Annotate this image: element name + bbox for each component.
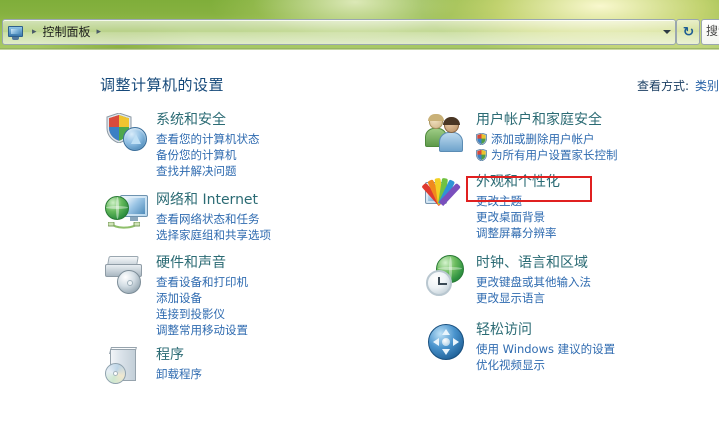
category-sublinks: 使用 Windows 建议的设置优化视频显示 [476,341,719,373]
address-bar[interactable]: ▸ 控制面板 ▸ [2,19,676,45]
sublink-label: 更改主题 [476,193,522,209]
view-by-label: 查看方式: [637,79,689,93]
category-block: 硬件和声音查看设备和打印机添加设备连接到投影仪调整常用移动设置 [104,253,404,338]
category-block: 程序卸载程序 [104,345,404,382]
category-body: 时钟、语言和区域更改键盘或其他输入法更改显示语言 [476,253,719,306]
category-sublink[interactable]: 连接到投影仪 [156,306,404,322]
category-sublink[interactable]: 查找并解决问题 [156,163,404,179]
category-sublink[interactable]: 使用 Windows 建议的设置 [476,341,719,357]
category-icon-wrap[interactable] [424,174,470,218]
category-title-link[interactable]: 网络和 Internet [156,190,404,210]
category-icon-wrap[interactable] [104,192,150,236]
category-sublinks: 更改主题更改桌面背景调整屏幕分辨率 [476,193,719,241]
category-sublink[interactable]: 选择家庭组和共享选项 [156,227,404,243]
category-sublinks: 查看您的计算机状态备份您的计算机查找并解决问题 [156,131,404,179]
category-body: 外观和个性化更改主题更改桌面背景调整屏幕分辨率 [476,172,719,241]
category-block: 用户帐户和家庭安全添加或删除用户帐户为所有用户设置家长控制 [424,110,719,163]
programs-box-cd-icon [104,347,150,391]
category-sublinks: 更改键盘或其他输入法更改显示语言 [476,274,719,306]
category-sublink[interactable]: 查看网络状态和任务 [156,211,404,227]
sublink-label: 选择家庭组和共享选项 [156,227,271,243]
sublink-label: 调整屏幕分辨率 [476,225,557,241]
refresh-button[interactable]: ↻ [676,19,700,45]
page-title: 调整计算机的设置 [100,74,224,95]
sublink-label: 更改键盘或其他输入法 [476,274,591,290]
view-by-control[interactable]: 查看方式:类别 [637,77,719,94]
sublink-label: 添加或删除用户帐户 [491,131,595,147]
category-icon-wrap[interactable] [104,112,150,156]
sublink-label: 卸载程序 [156,366,202,382]
category-sublink[interactable]: 备份您的计算机 [156,147,404,163]
chevron-down-icon[interactable] [659,22,675,42]
category-sublink[interactable]: 查看您的计算机状态 [156,131,404,147]
sublink-label: 添加设备 [156,290,202,306]
category-sublinks: 查看网络状态和任务选择家庭组和共享选项 [156,211,404,243]
category-body: 程序卸载程序 [156,345,404,382]
shield-security-icon [104,112,150,156]
users-accounts-icon [424,112,470,156]
category-sublinks: 添加或删除用户帐户为所有用户设置家长控制 [476,131,719,163]
uac-shield-icon [476,149,487,161]
sublink-label: 更改桌面背景 [476,209,545,225]
computer-icon [7,25,24,40]
category-sublinks: 卸载程序 [156,366,404,382]
category-sublink[interactable]: 卸载程序 [156,366,404,382]
category-title-link[interactable]: 用户帐户和家庭安全 [476,110,719,130]
category-body: 轻松访问使用 Windows 建议的设置优化视频显示 [476,320,719,373]
category-sublink[interactable]: 添加设备 [156,290,404,306]
category-sublink[interactable]: 查看设备和打印机 [156,274,404,290]
breadcrumb-separator-0: ▸ [32,25,37,40]
search-input[interactable]: 搜索 [701,19,719,45]
category-icon-wrap[interactable] [424,112,470,156]
category-title-link[interactable]: 外观和个性化 [476,172,719,192]
category-title-link[interactable]: 程序 [156,345,404,365]
category-sublink[interactable]: 更改主题 [476,193,719,209]
category-body: 用户帐户和家庭安全添加或删除用户帐户为所有用户设置家长控制 [476,110,719,163]
category-sublink[interactable]: 调整常用移动设置 [156,322,404,338]
category-icon-wrap[interactable] [424,255,470,299]
sublink-label: 备份您的计算机 [156,147,237,163]
category-title-link[interactable]: 系统和安全 [156,110,404,130]
category-title-link[interactable]: 轻松访问 [476,320,719,340]
category-body: 硬件和声音查看设备和打印机添加设备连接到投影仪调整常用移动设置 [156,253,404,338]
sublink-label: 使用 Windows 建议的设置 [476,341,615,357]
sublink-label: 连接到投影仪 [156,306,225,322]
category-title-link[interactable]: 时钟、语言和区域 [476,253,719,273]
category-block: 外观和个性化更改主题更改桌面背景调整屏幕分辨率 [424,172,719,241]
category-sublink[interactable]: 调整屏幕分辨率 [476,225,719,241]
appearance-monitor-palette-icon [424,174,470,218]
category-block: 网络和 Internet查看网络状态和任务选择家庭组和共享选项 [104,190,404,243]
sublink-label: 为所有用户设置家长控制 [491,147,618,163]
sublink-label: 查看设备和打印机 [156,274,248,290]
sublink-label: 优化视频显示 [476,357,545,373]
category-title-link[interactable]: 硬件和声音 [156,253,404,273]
clock-globe-icon [424,255,470,299]
category-sublink[interactable]: 更改键盘或其他输入法 [476,274,719,290]
category-block: 轻松访问使用 Windows 建议的设置优化视频显示 [424,320,719,373]
refresh-icon: ↻ [682,26,693,39]
category-body: 系统和安全查看您的计算机状态备份您的计算机查找并解决问题 [156,110,404,179]
category-sublink[interactable]: 更改桌面背景 [476,209,719,225]
breadcrumb-control-panel[interactable]: 控制面板 [42,25,92,40]
control-panel-window: ▸ 控制面板 ▸ ↻ 搜索 调整计算机的设置 查看方式:类别 系统和安全查看您的… [0,0,719,439]
category-icon-wrap[interactable] [104,255,150,299]
category-icon-wrap[interactable] [104,347,150,391]
category-body: 网络和 Internet查看网络状态和任务选择家庭组和共享选项 [156,190,404,243]
network-globe-monitor-icon [104,192,150,236]
sublink-label: 调整常用移动设置 [156,322,248,338]
category-icon-wrap[interactable] [424,322,470,366]
sublink-label: 查找并解决问题 [156,163,237,179]
ease-of-access-icon [424,322,470,366]
search-placeholder: 搜索 [706,20,719,42]
sublink-label: 更改显示语言 [476,290,545,306]
category-block: 系统和安全查看您的计算机状态备份您的计算机查找并解决问题 [104,110,404,179]
category-sublink[interactable]: 为所有用户设置家长控制 [476,147,719,163]
breadcrumb-separator-1[interactable]: ▸ [97,25,102,40]
sublink-label: 查看您的计算机状态 [156,131,260,147]
uac-shield-icon [476,133,487,145]
content-area: 调整计算机的设置 查看方式:类别 系统和安全查看您的计算机状态备份您的计算机查找… [0,50,719,439]
category-sublinks: 查看设备和打印机添加设备连接到投影仪调整常用移动设置 [156,274,404,338]
category-sublink[interactable]: 优化视频显示 [476,357,719,373]
category-block: 时钟、语言和区域更改键盘或其他输入法更改显示语言 [424,253,719,306]
category-sublink[interactable]: 添加或删除用户帐户 [476,131,719,147]
view-by-value[interactable]: 类别 [695,79,719,93]
printer-hardware-icon [104,255,150,299]
category-sublink[interactable]: 更改显示语言 [476,290,719,306]
sublink-label: 查看网络状态和任务 [156,211,260,227]
